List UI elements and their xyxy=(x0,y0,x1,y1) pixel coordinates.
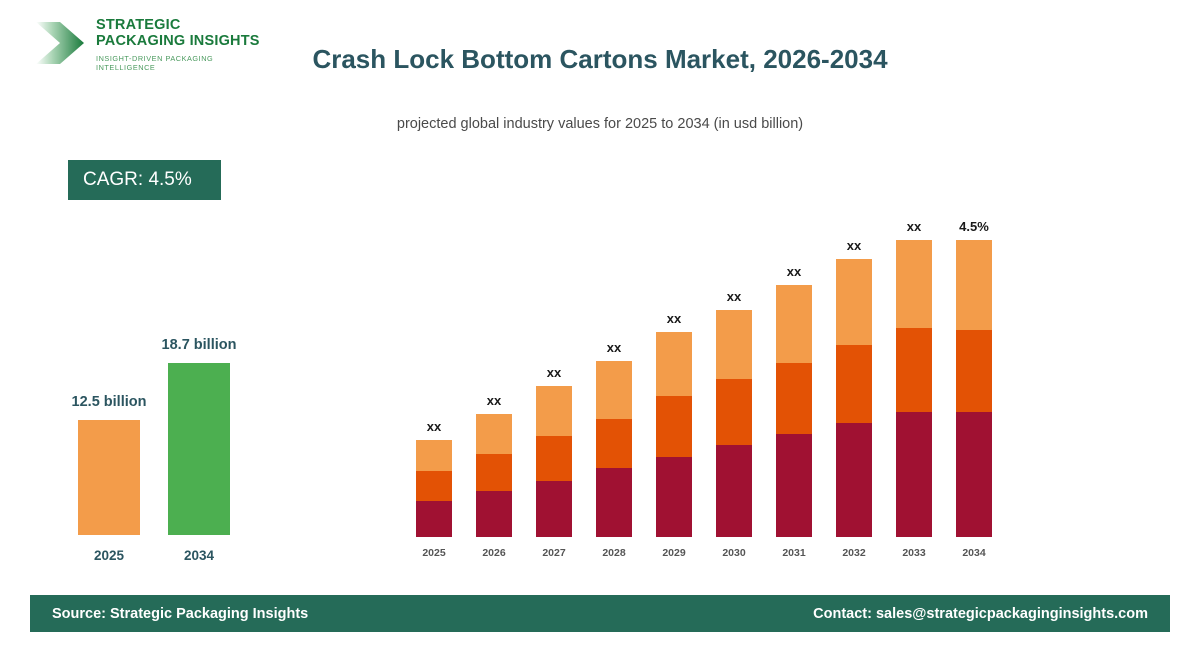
stacked-bar-segment xyxy=(956,240,992,330)
stacked-bar-segment xyxy=(536,386,572,436)
brand-logo-text: STRATEGIC PACKAGING INSIGHTS INSIGHT-DRI… xyxy=(96,18,260,72)
stacked-bar-year-label: 2031 xyxy=(776,547,812,559)
stacked-bar-segment xyxy=(656,332,692,396)
stacked-bar-segment xyxy=(476,414,512,454)
stacked-bar: 4.5%2034 xyxy=(956,240,992,537)
brand-name-line2: PACKAGING INSIGHTS xyxy=(96,34,260,50)
stacked-bar-segment xyxy=(536,481,572,537)
stacked-bar-segment xyxy=(716,379,752,445)
summary-bar-fill xyxy=(78,420,140,535)
stacked-bar-segment xyxy=(416,440,452,471)
page-subtitle: projected global industry values for 202… xyxy=(260,116,940,132)
stacked-bar-year-label: 2032 xyxy=(836,547,872,559)
stacked-bar-segment xyxy=(596,468,632,537)
brand-logo: STRATEGIC PACKAGING INSIGHTS INSIGHT-DRI… xyxy=(30,14,260,74)
stacked-bar-segment xyxy=(656,396,692,457)
stacked-bar-segment xyxy=(656,457,692,537)
stacked-bar-segment xyxy=(596,419,632,468)
brand-tagline: INSIGHT-DRIVEN PACKAGING INTELLIGENCE xyxy=(96,54,260,72)
cagr-badge-label: CAGR: 4.5% xyxy=(83,169,192,191)
stacked-bar-segment xyxy=(776,434,812,537)
stacked-bar-segment xyxy=(776,363,812,434)
stacked-bar: xx2033 xyxy=(896,240,932,537)
stacked-bar-segment xyxy=(836,423,872,537)
stacked-bar-segment xyxy=(476,454,512,491)
chevron-logo-icon xyxy=(34,18,86,68)
stacked-bar: xx2030 xyxy=(716,310,752,537)
stacked-bar-year-label: 2028 xyxy=(596,547,632,559)
forecast-stacked-bar-chart: xx2025xx2026xx2027xx2028xx2029xx2030xx20… xyxy=(390,190,1030,570)
stacked-bar: xx2029 xyxy=(656,332,692,537)
stacked-bar: xx2032 xyxy=(836,259,872,537)
summary-bar-fill xyxy=(168,363,230,535)
stacked-bar-year-label: 2029 xyxy=(656,547,692,559)
page-title: Crash Lock Bottom Cartons Market, 2026-2… xyxy=(260,42,940,77)
summary-bar: 12.5 billion2025 xyxy=(78,420,140,535)
stacked-bar-year-label: 2030 xyxy=(716,547,752,559)
stacked-bar-segment xyxy=(716,445,752,537)
stacked-bar-segment xyxy=(896,240,932,328)
stacked-bar-top-label: 4.5% xyxy=(914,219,1034,234)
stacked-bar-segment xyxy=(716,310,752,379)
stacked-bar-segment xyxy=(896,328,932,412)
stacked-bar: xx2031 xyxy=(776,285,812,537)
infographic-root: STRATEGIC PACKAGING INSIGHTS INSIGHT-DRI… xyxy=(0,0,1200,650)
footer-source: Source: Strategic Packaging Insights xyxy=(52,606,308,622)
summary-bar-year-label: 2034 xyxy=(168,548,230,563)
stacked-bar-segment xyxy=(836,345,872,423)
stacked-bar-segment xyxy=(776,285,812,363)
stacked-bar-segment xyxy=(476,491,512,537)
stacked-bar: xx2026 xyxy=(476,414,512,537)
stacked-bar: xx2027 xyxy=(536,386,572,537)
stacked-bar: xx2028 xyxy=(596,361,632,537)
stacked-bar-year-label: 2026 xyxy=(476,547,512,559)
stacked-bar-year-label: 2025 xyxy=(416,547,452,559)
stacked-bar-segment xyxy=(956,330,992,412)
summary-bar-year-label: 2025 xyxy=(78,548,140,563)
stacked-bar-year-label: 2034 xyxy=(956,547,992,559)
stacked-bar-segment xyxy=(416,501,452,537)
summary-bar: 18.7 billion2034 xyxy=(168,363,230,535)
summary-bar-value-label: 18.7 billion xyxy=(99,337,299,353)
summary-bar-chart: 12.5 billion202518.7 billion2034 xyxy=(50,300,280,570)
stacked-bar: xx2025 xyxy=(416,440,452,537)
stacked-bar-segment xyxy=(956,412,992,537)
stacked-bar-segment xyxy=(536,436,572,481)
stacked-bar-year-label: 2033 xyxy=(896,547,932,559)
stacked-bar-segment xyxy=(416,471,452,501)
footer-bar: Source: Strategic Packaging Insights Con… xyxy=(30,595,1170,632)
footer-contact: Contact: sales@strategicpackaginginsight… xyxy=(813,606,1148,622)
stacked-bar-year-label: 2027 xyxy=(536,547,572,559)
brand-name-line1: STRATEGIC xyxy=(96,18,260,34)
stacked-bar-segment xyxy=(896,412,932,537)
cagr-badge: CAGR: 4.5% xyxy=(68,160,221,200)
stacked-bar-segment xyxy=(596,361,632,419)
stacked-bar-segment xyxy=(836,259,872,345)
